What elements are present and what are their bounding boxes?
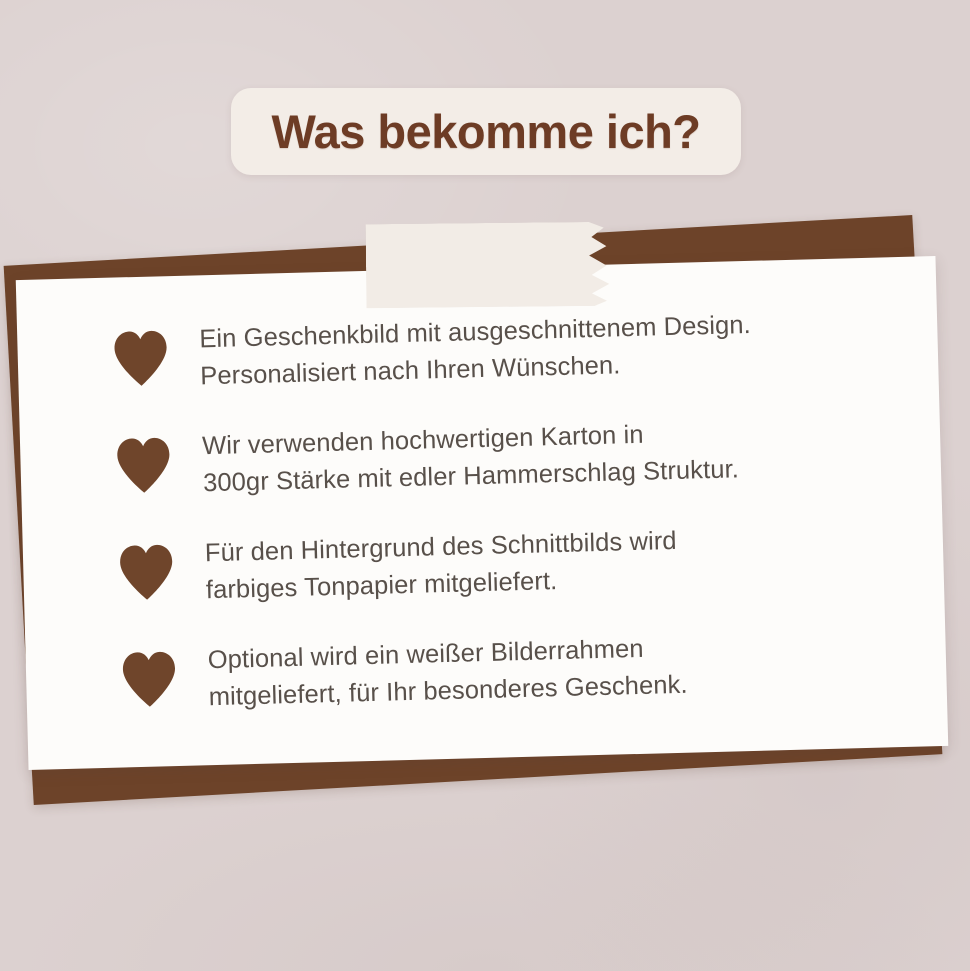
- list-item: Ein Geschenkbild mit ausgeschnittenem De…: [109, 303, 887, 398]
- list-item: Wir verwenden hochwertigen Karton in 300…: [112, 410, 890, 505]
- benefit-text: Optional wird ein weißer Bilderrahmen mi…: [207, 630, 688, 717]
- list-item: Optional wird ein weißer Bilderrahmen mi…: [117, 624, 895, 719]
- benefits-card: Ein Geschenkbild mit ausgeschnittenem De…: [16, 256, 949, 770]
- heart-icon: [109, 326, 173, 390]
- paper-stack: Ein Geschenkbild mit ausgeschnittenem De…: [0, 0, 970, 971]
- benefit-list: Ein Geschenkbild mit ausgeschnittenem De…: [109, 303, 895, 719]
- benefit-text: Für den Hintergrund des Schnittbilds wir…: [204, 523, 678, 610]
- list-item: Für den Hintergrund des Schnittbilds wir…: [115, 517, 893, 612]
- washi-tape: [366, 222, 615, 309]
- card-content: Ein Geschenkbild mit ausgeschnittenem De…: [16, 256, 949, 770]
- heart-icon: [115, 540, 179, 604]
- benefit-text: Wir verwenden hochwertigen Karton in 300…: [202, 414, 740, 503]
- heart-icon: [112, 433, 176, 497]
- heart-icon: [117, 647, 181, 711]
- infographic-canvas: Was bekomme ich? Ein Geschenkbild mit au…: [0, 0, 970, 971]
- benefit-text: Ein Geschenkbild mit ausgeschnittenem De…: [199, 307, 752, 396]
